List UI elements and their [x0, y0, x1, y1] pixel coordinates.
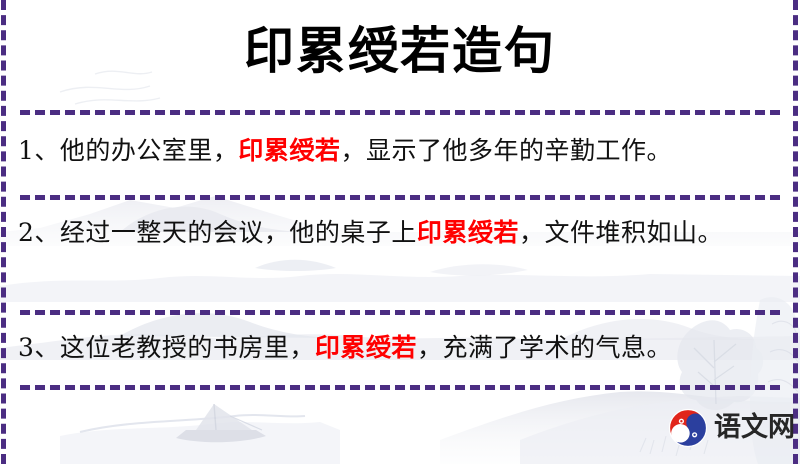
sentence-3-text-before: 这位老教授的书房里， — [60, 333, 315, 362]
separator-1 — [20, 110, 780, 115]
example-sentence-3: 3、这位老教授的书房里，印累绶若，充满了学术的气息。 — [18, 327, 780, 369]
page-title: 印累绶若造句 — [0, 20, 800, 82]
separator-4 — [20, 385, 780, 390]
sentence-2-number: 2、 — [18, 218, 60, 247]
sentence-3-text-after: ，充满了学术的气息。 — [417, 333, 672, 362]
example-sentence-1: 1、他的办公室里，印累绶若，显示了他多年的辛勤工作。 — [18, 130, 780, 172]
example-sentence-2: 2、经过一整天的会议，他的桌子上印累绶若，文件堆积如山。 — [18, 212, 780, 254]
frame-left-dashed-border — [1, 0, 6, 464]
sentence-3-number: 3、 — [18, 333, 60, 362]
yin-yang-fish-logo-icon — [668, 408, 708, 448]
sentence-1-text-before: 他的办公室里， — [60, 136, 239, 165]
sentence-1-number: 1、 — [18, 136, 60, 165]
separator-3 — [20, 310, 780, 315]
site-logo[interactable]: 语文网 — [668, 408, 795, 448]
sentence-3-idiom: 印累绶若 — [315, 333, 417, 362]
slide-canvas: 印累绶若造句 1、他的办公室里，印累绶若，显示了他多年的辛勤工作。 2、经过一整… — [0, 0, 800, 464]
sentence-1-text-after: ，显示了他多年的辛勤工作。 — [340, 136, 672, 165]
separator-2 — [20, 195, 780, 200]
sentence-2-idiom: 印累绶若 — [417, 218, 519, 247]
sentence-2-text-before: 经过一整天的会议，他的桌子上 — [60, 218, 417, 247]
sentence-1-idiom: 印累绶若 — [238, 136, 340, 165]
logo-wordmark: 语文网 — [714, 413, 795, 443]
frame-right-dashed-border — [793, 0, 798, 464]
sentence-2-text-after: ，文件堆积如山。 — [519, 218, 723, 247]
